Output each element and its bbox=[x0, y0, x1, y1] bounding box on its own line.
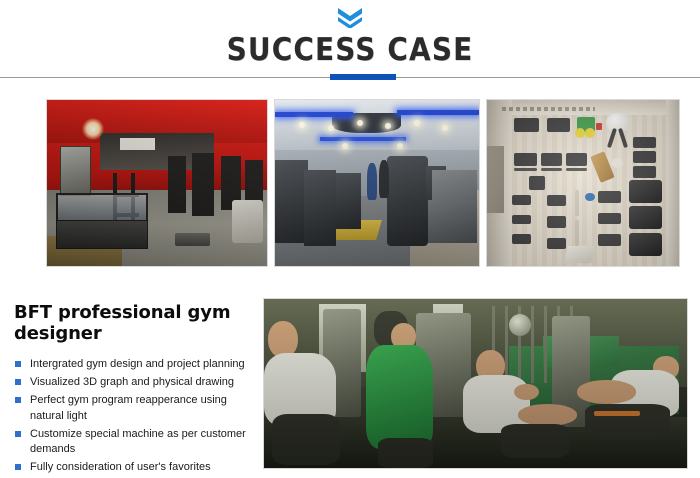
list-item-label: Visualized 3D graph and physical drawing bbox=[30, 376, 234, 388]
gym-training-photo bbox=[263, 298, 688, 469]
gym-photo-red-interior bbox=[46, 99, 268, 267]
gym-photo-modern-interior bbox=[274, 99, 480, 267]
feature-bullet-list: Intergrated gym design and project plann… bbox=[14, 357, 262, 475]
page-title: SUCCESS CASE bbox=[0, 32, 700, 68]
bullet-square-icon bbox=[15, 464, 21, 470]
list-item-label: Customize special machine as per custome… bbox=[30, 428, 246, 455]
list-item-label: Fully consideration of user's favorites bbox=[30, 461, 211, 473]
list-item: Intergrated gym design and project plann… bbox=[14, 357, 262, 372]
feature-heading: BFT professional gym designer bbox=[14, 302, 262, 344]
list-item: Perfect gym program reapperance using na… bbox=[14, 393, 262, 423]
list-item: Visualized 3D graph and physical drawing bbox=[14, 375, 262, 390]
chevron-icon-wrap bbox=[0, 6, 700, 28]
bullet-square-icon bbox=[15, 361, 21, 367]
list-item-label: Perfect gym program reapperance using na… bbox=[30, 394, 227, 421]
gallery-row bbox=[0, 99, 700, 267]
bullet-square-icon bbox=[15, 397, 21, 403]
header-divider-accent bbox=[330, 74, 396, 80]
bullet-square-icon bbox=[15, 431, 21, 437]
list-item-label: Intergrated gym design and project plann… bbox=[30, 358, 245, 370]
list-item: Fully consideration of user's favorites bbox=[14, 460, 262, 475]
page-header: SUCCESS CASE bbox=[0, 0, 700, 86]
list-item: Customize special machine as per custome… bbox=[14, 427, 262, 457]
double-chevron-down-icon bbox=[335, 6, 365, 28]
feature-copy: BFT professional gym designer Intergrate… bbox=[14, 302, 262, 478]
bullet-square-icon bbox=[15, 379, 21, 385]
feature-section: BFT professional gym designer Intergrate… bbox=[0, 296, 700, 472]
gym-3d-layout-render bbox=[486, 99, 680, 267]
